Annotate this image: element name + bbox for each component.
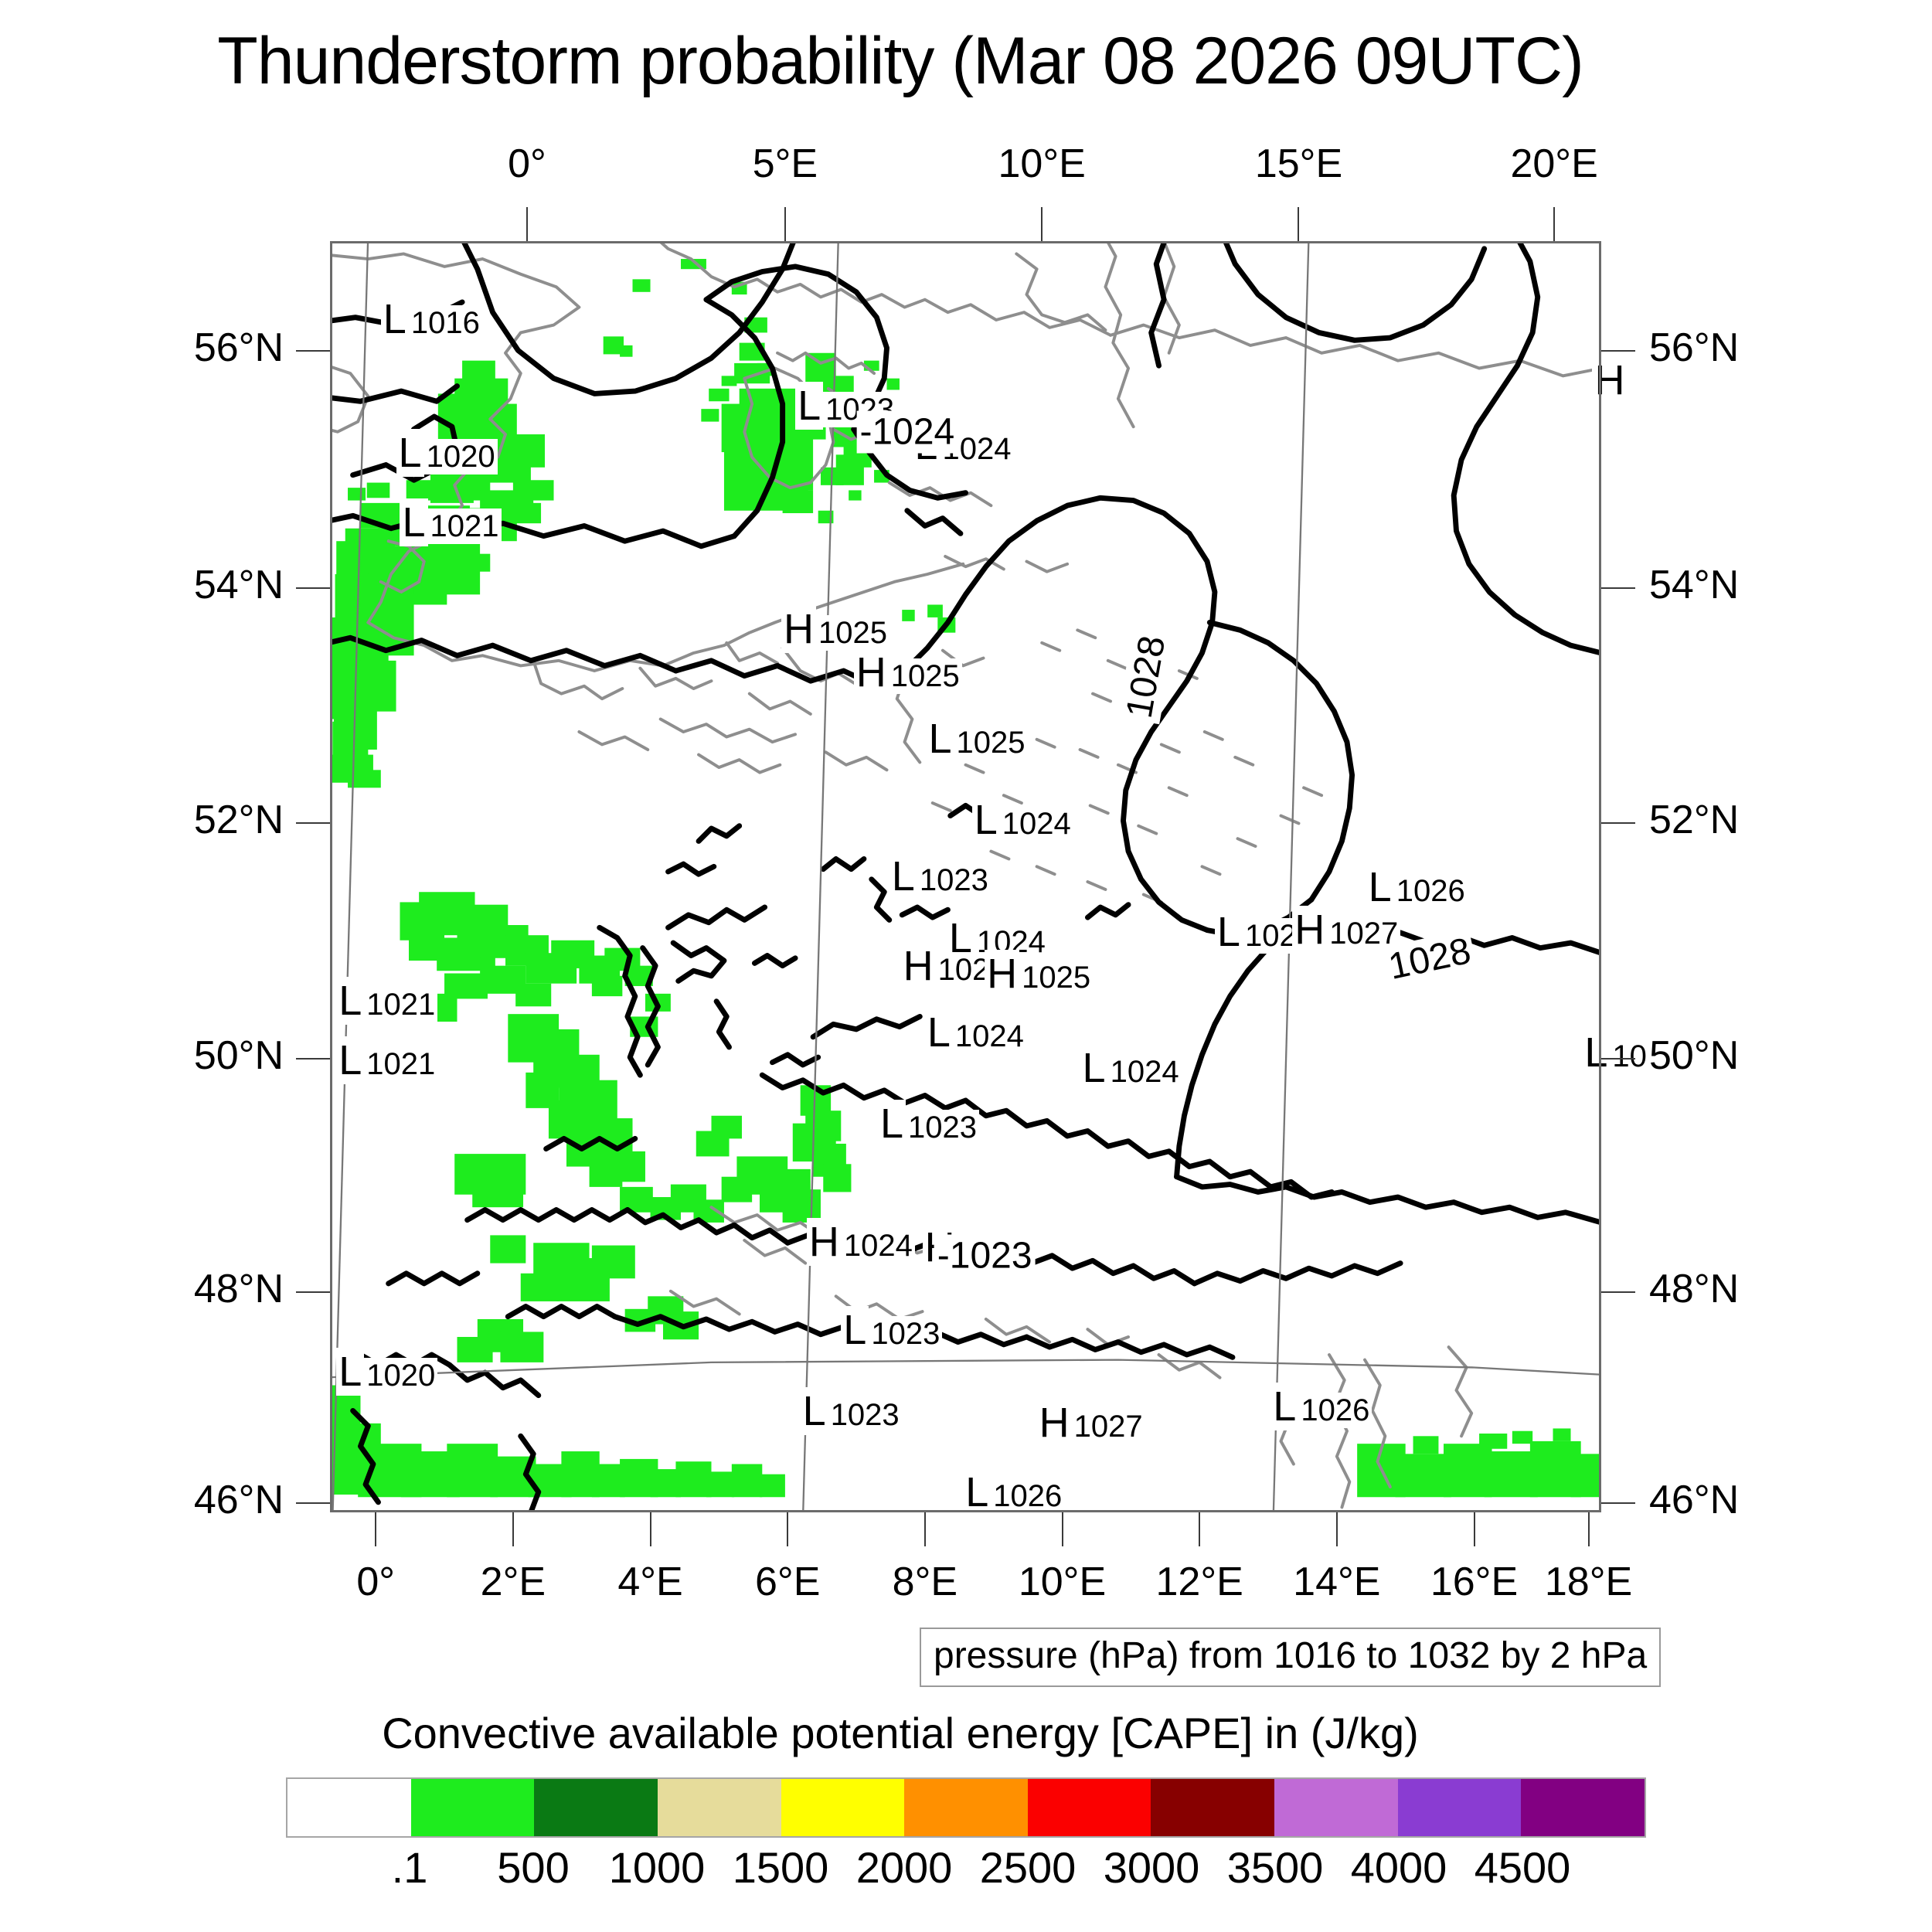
map-plot-area[interactable]: L1016L1020L1021L1023L1024H1025H1025L1025…: [330, 241, 1601, 1512]
right-lat-label-3: 50°N: [1649, 1032, 1881, 1079]
colorbar-segment-3[interactable]: [658, 1779, 781, 1836]
left-tick-2: [296, 822, 330, 824]
bottom-tick-8: [1474, 1512, 1475, 1546]
colorbar-tick-2: 1000: [609, 1842, 706, 1893]
right-lat-label-2: 52°N: [1649, 797, 1881, 843]
page-title: Thunderstorm probability (Mar 08 2026 09…: [0, 23, 1801, 100]
bottom-tick-3: [787, 1512, 788, 1546]
left-tick-3: [296, 1058, 330, 1060]
top-lon-label-2: 10°E: [941, 141, 1142, 187]
right-lat-label-5: 46°N: [1649, 1477, 1881, 1523]
right-tick-5: [1601, 1502, 1635, 1504]
top-lon-label-1: 5°E: [685, 141, 886, 187]
colorbar-strip[interactable]: [286, 1777, 1646, 1838]
top-tick-1: [784, 207, 786, 241]
right-tick-3: [1601, 1058, 1635, 1060]
colorbar-segment-6[interactable]: [1028, 1779, 1151, 1836]
bottom-tick-4: [924, 1512, 926, 1546]
left-lat-label-3: 50°N: [52, 1032, 284, 1079]
colorbar-segment-10[interactable]: [1521, 1779, 1645, 1836]
right-tick-4: [1601, 1291, 1635, 1293]
pressure-center-value: 10: [1610, 1039, 1649, 1074]
colorbar-tick-8: 4000: [1351, 1842, 1447, 1893]
bottom-tick-0: [375, 1512, 376, 1546]
bottom-tick-7: [1336, 1512, 1338, 1546]
top-lon-label-3: 15°E: [1198, 141, 1399, 187]
top-tick-2: [1041, 207, 1043, 241]
colorbar-segment-4[interactable]: [781, 1779, 905, 1836]
colorbar-segment-2[interactable]: [534, 1779, 658, 1836]
colorbar-tick-4: 2000: [856, 1842, 953, 1893]
colorbar-segment-0[interactable]: [287, 1779, 411, 1836]
colorbar-segment-9[interactable]: [1398, 1779, 1522, 1836]
left-lat-label-5: 46°N: [52, 1477, 284, 1523]
colorbar-tick-3: 1500: [733, 1842, 829, 1893]
left-lat-label-2: 52°N: [52, 797, 284, 843]
colorbar-tick-9: 4500: [1475, 1842, 1571, 1893]
left-lat-label-4: 48°N: [52, 1266, 284, 1312]
pressure-center-value: [1627, 366, 1631, 402]
bottom-tick-1: [512, 1512, 514, 1546]
left-lat-label-0: 56°N: [52, 325, 284, 371]
colorbar-tick-6: 3000: [1104, 1842, 1200, 1893]
colorbar-segment-8[interactable]: [1274, 1779, 1398, 1836]
colorbar[interactable]: .150010001500200025003000350040004500: [286, 1777, 1646, 1838]
left-tick-1: [296, 587, 330, 589]
right-tick-1: [1601, 587, 1635, 589]
right-tick-2: [1601, 822, 1635, 824]
right-tick-0: [1601, 350, 1635, 352]
colorbar-segment-5[interactable]: [904, 1779, 1028, 1836]
left-lat-label-1: 54°N: [52, 562, 284, 608]
colorbar-tick-labels: .150010001500200025003000350040004500: [286, 1842, 1646, 1896]
right-lat-label-1: 54°N: [1649, 562, 1881, 608]
colorbar-title: Convective available potential energy [C…: [0, 1708, 1801, 1758]
top-lon-label-4: 20°E: [1454, 141, 1655, 187]
right-lat-label-4: 48°N: [1649, 1266, 1881, 1312]
colorbar-tick-1: 500: [497, 1842, 569, 1893]
chart-page: Thunderstorm probability (Mar 08 2026 09…: [0, 0, 1932, 1932]
left-tick-5: [296, 1502, 330, 1504]
bottom-tick-5: [1062, 1512, 1063, 1546]
top-lon-label-0: 0°: [427, 141, 628, 187]
top-tick-4: [1553, 207, 1555, 241]
colorbar-tick-0: .1: [392, 1842, 428, 1893]
bottom-tick-9: [1588, 1512, 1590, 1546]
map-frame-border: [330, 241, 1601, 1512]
bottom-tick-6: [1199, 1512, 1200, 1546]
colorbar-tick-7: 3500: [1227, 1842, 1324, 1893]
left-tick-0: [296, 350, 330, 352]
right-lat-label-0: 56°N: [1649, 325, 1881, 371]
colorbar-segment-7[interactable]: [1151, 1779, 1274, 1836]
bottom-lon-label-9: 18°E: [1488, 1559, 1689, 1605]
left-tick-4: [296, 1291, 330, 1293]
top-tick-0: [526, 207, 528, 241]
top-tick-3: [1298, 207, 1299, 241]
bottom-tick-2: [650, 1512, 651, 1546]
pressure-contour-note: pressure (hPa) from 1016 to 1032 by 2 hP…: [920, 1628, 1661, 1687]
colorbar-segment-1[interactable]: [411, 1779, 535, 1836]
colorbar-tick-5: 2500: [980, 1842, 1077, 1893]
